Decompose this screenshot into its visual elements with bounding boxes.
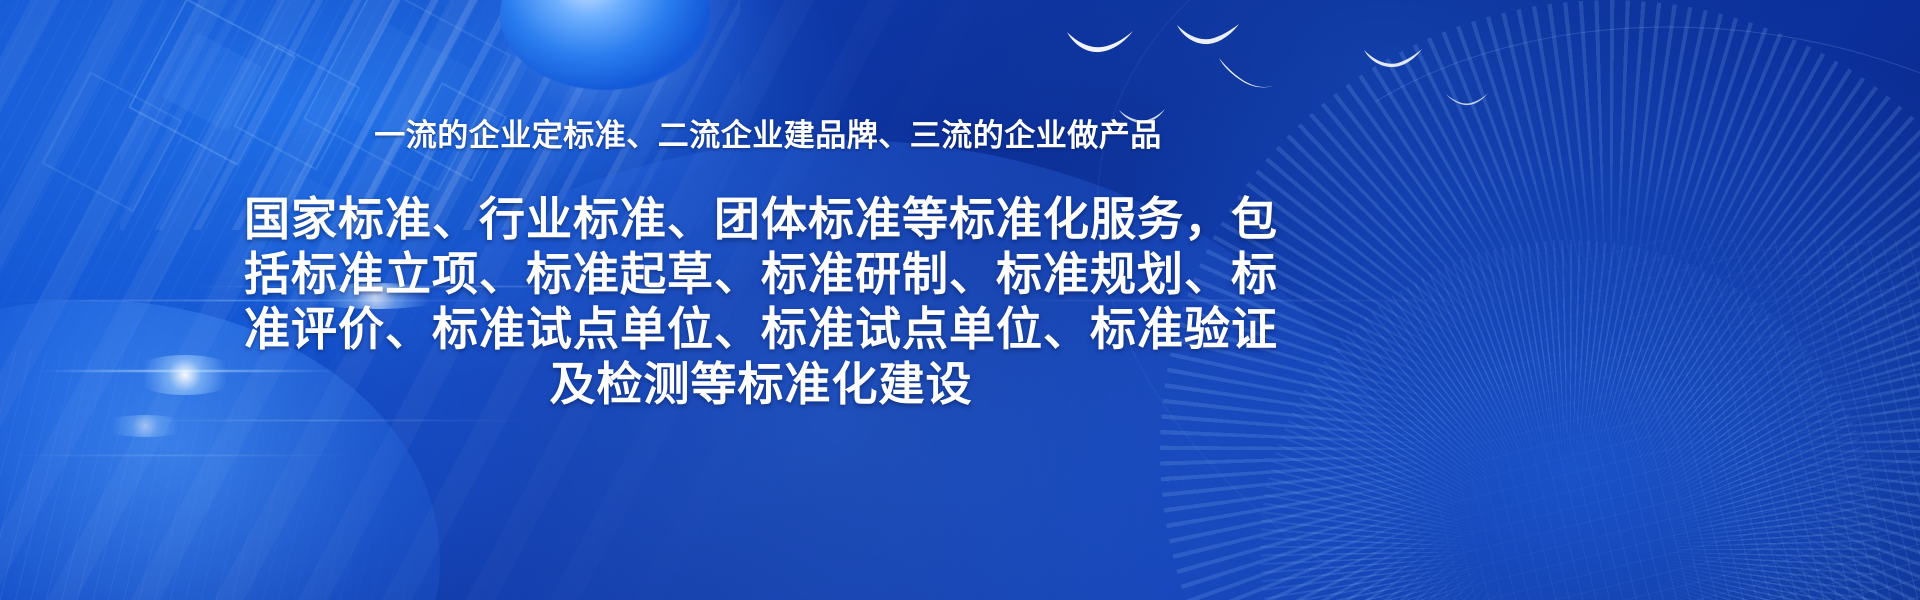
banner-subtitle: 一流的企业定标准、二流企业建品牌、三流的企业做产品 <box>0 117 1536 154</box>
promo-banner: 一流的企业定标准、二流企业建品牌、三流的企业做产品 国家标准、行业标准、团体标准… <box>0 0 1920 600</box>
banner-headline: 国家标准、行业标准、团体标准等标准化服务，包括标准立项、标准起草、标准研制、标准… <box>236 192 1286 412</box>
banner-content: 一流的企业定标准、二流企业建品牌、三流的企业做产品 国家标准、行业标准、团体标准… <box>0 0 1920 600</box>
